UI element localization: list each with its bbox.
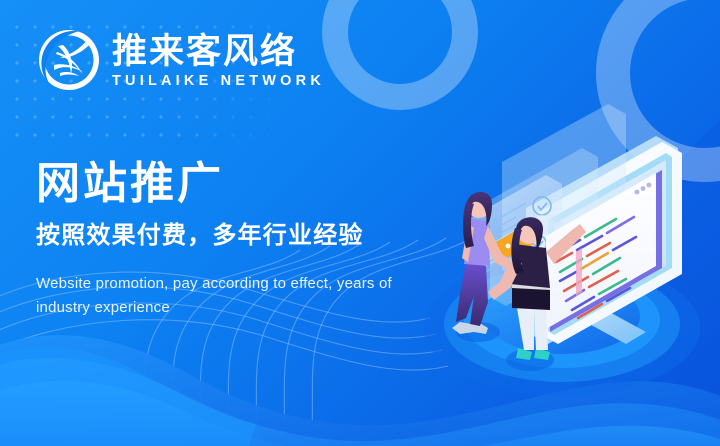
illustration-svg [430, 96, 720, 396]
brand-name-cn: 推来客风络 [112, 34, 325, 69]
promo-banner: 推来客风络 TUILAIKE NETWORK 网站推广 按照效果付费，多年行业经… [0, 0, 720, 446]
ring-donut-left [322, 0, 478, 110]
brand-wordmark: 推来客风络 TUILAIKE NETWORK [112, 34, 325, 89]
tuilaike-circle-k-mark [36, 27, 102, 93]
page-title: 网站推广 [36, 160, 456, 208]
brand-name-en: TUILAIKE NETWORK [112, 74, 325, 89]
brand-logo[interactable]: 推来客风络 TUILAIKE NETWORK [36, 27, 325, 93]
pointer-highlight [576, 248, 582, 296]
subtitle-en: Website promotion, pay according to effe… [36, 272, 428, 319]
headline-block: 网站推广 按照效果付费，多年行业经验 Website promotion, pa… [36, 160, 456, 319]
subtitle-cn: 按照效果付费，多年行业经验 [36, 222, 456, 251]
isometric-two-women-at-monitor [430, 96, 720, 396]
